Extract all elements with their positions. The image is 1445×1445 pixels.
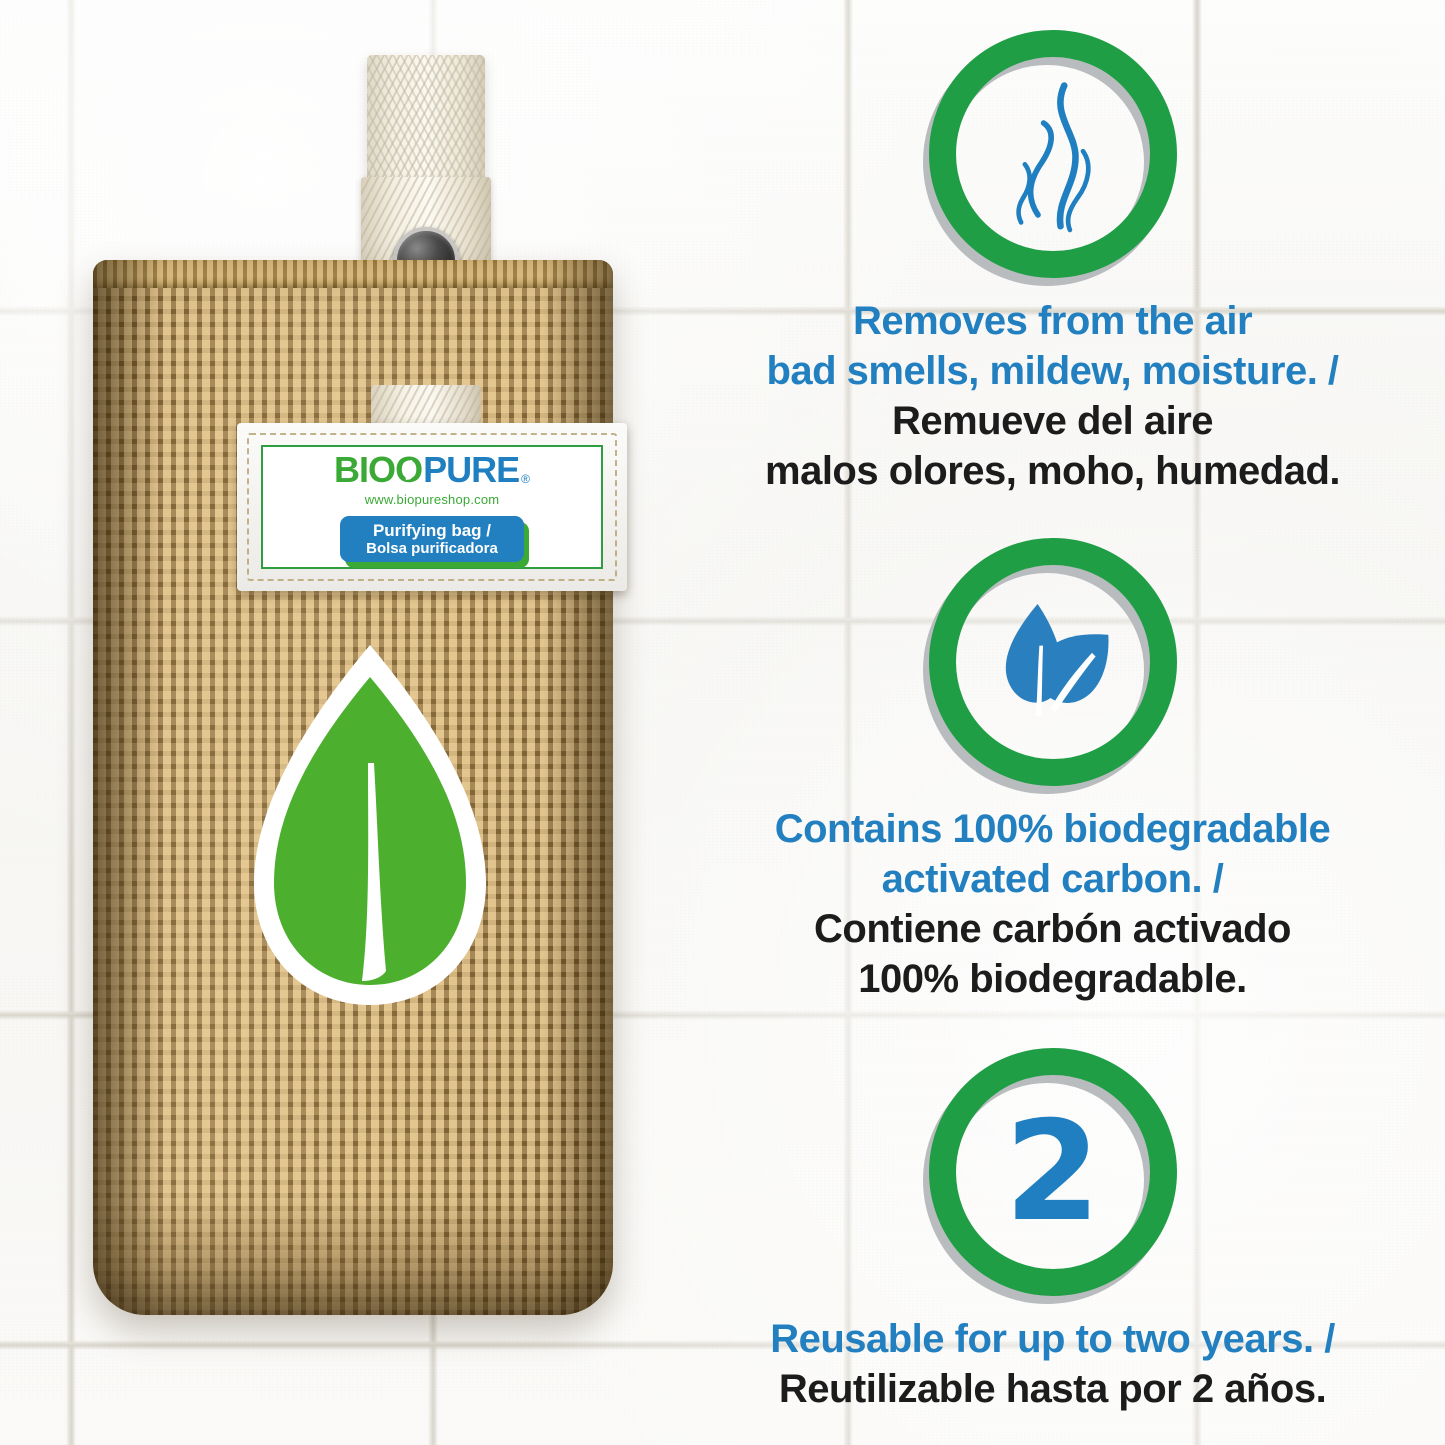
bag-top-seam xyxy=(93,260,613,288)
label-banner-line-1: Purifying bag / xyxy=(366,521,498,541)
feature-item-carbon: Contains 100% biodegradable activated ca… xyxy=(660,538,1445,1004)
caption-es-line-1: Reutilizable hasta por 2 años. xyxy=(660,1364,1445,1414)
feature-caption: Reusable for up to two years. / Reutiliz… xyxy=(660,1314,1445,1414)
feature-icon-container xyxy=(929,538,1177,786)
feature-caption: Contains 100% biodegradable activated ca… xyxy=(660,804,1445,1004)
number-two-icon: 2 xyxy=(929,1048,1177,1296)
infographic-canvas: BIO O PURE ® www.biopureshop.com Purifyi… xyxy=(0,0,1445,1445)
product-label-patch: BIO O PURE ® www.biopureshop.com Purifyi… xyxy=(237,423,627,591)
product-photo: BIO O PURE ® www.biopureshop.com Purifyi… xyxy=(75,55,635,1315)
feature-caption: Removes from the air bad smells, mildew,… xyxy=(660,296,1445,496)
feature-item-air: Removes from the air bad smells, mildew,… xyxy=(660,30,1445,496)
caption-es-line-1: Remueve del aire xyxy=(660,396,1445,446)
caption-en-line-2: activated carbon. / xyxy=(660,854,1445,904)
registered-trademark-icon: ® xyxy=(521,473,530,485)
caption-en-line-1: Contains 100% biodegradable xyxy=(660,804,1445,854)
number-two-label: 2 xyxy=(1004,1103,1100,1241)
caption-es-line-2: malos olores, moho, humedad. xyxy=(660,446,1445,496)
label-banner: Purifying bag / Bolsa purificadora xyxy=(340,516,524,563)
label-banner-line-2: Bolsa purificadora xyxy=(366,540,498,557)
caption-en-line-1: Reusable for up to two years. / xyxy=(660,1314,1445,1364)
caption-en-line-2: bad smells, mildew, moisture. / xyxy=(660,346,1445,396)
caption-es-line-2: 100% biodegradable. xyxy=(660,954,1445,1004)
leaf-decal-icon xyxy=(250,635,490,1015)
product-label: BIO O PURE ® www.biopureshop.com Purifyi… xyxy=(261,445,603,569)
leaves-icon xyxy=(929,538,1177,786)
caption-en-line-1: Removes from the air xyxy=(660,296,1445,346)
logo-text-pure: PURE xyxy=(423,452,519,488)
caption-es-line-1: Contiene carbón activado xyxy=(660,904,1445,954)
feature-icon-container xyxy=(929,30,1177,278)
feature-icon-container: 2 xyxy=(929,1048,1177,1296)
logo-o-with-leaf: O xyxy=(395,452,423,488)
air-waves-icon xyxy=(929,30,1177,278)
label-website: www.biopureshop.com xyxy=(365,492,500,507)
label-banner-body: Purifying bag / Bolsa purificadora xyxy=(340,516,524,563)
feature-item-reusable: 2 Reusable for up to two years. / Reutil… xyxy=(660,1048,1445,1414)
biopure-logo: BIO O PURE ® xyxy=(334,452,530,488)
feature-list: Removes from the air bad smells, mildew,… xyxy=(660,0,1445,1445)
logo-text-bio: BIO xyxy=(334,452,395,488)
